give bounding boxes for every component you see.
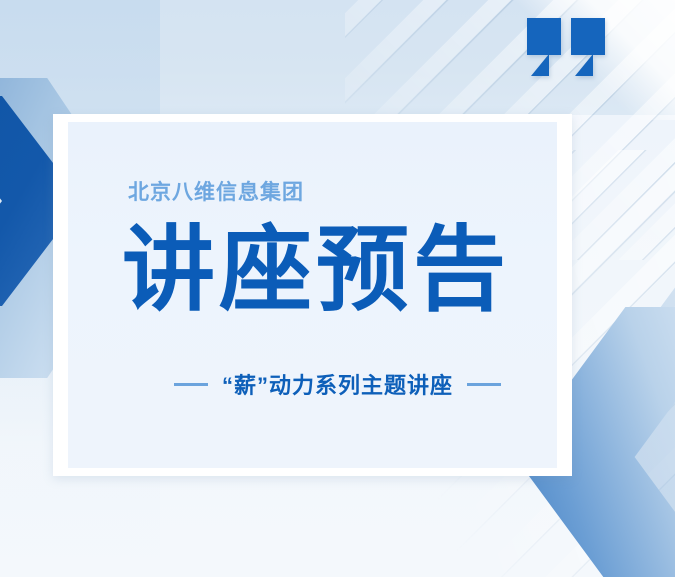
subtitle-text: “薪”动力系列主题讲座 <box>222 368 453 400</box>
quotation-glyph-first <box>527 18 561 76</box>
quotation-glyph-second <box>571 18 605 76</box>
subtitle-dash-left <box>174 383 208 386</box>
closing-quotation-mark-icon <box>527 18 605 76</box>
subtitle-row: “薪”动力系列主题讲座 <box>0 368 675 400</box>
quotation-glyph-second-tail <box>575 54 593 76</box>
page-title: 讲座预告 <box>122 224 510 317</box>
quotation-glyph-second-head <box>571 18 605 55</box>
subtitle-dash-right <box>467 383 501 386</box>
lecture-announcement-poster: 北京八维信息集团 讲座预告 “薪”动力系列主题讲座 <box>0 0 675 577</box>
quotation-glyph-first-tail <box>531 54 549 76</box>
quotation-glyph-first-head <box>527 18 561 55</box>
organization-name: 北京八维信息集团 <box>128 176 304 206</box>
